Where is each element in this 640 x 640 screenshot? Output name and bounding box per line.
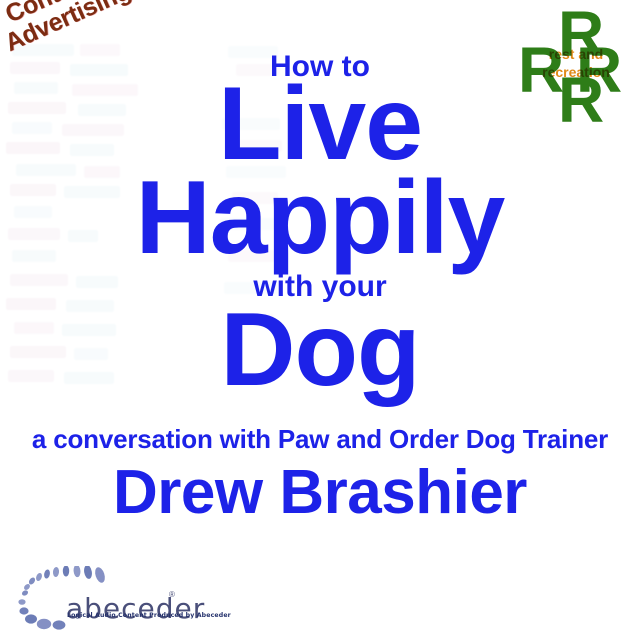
title-happily: Happily bbox=[0, 166, 640, 270]
title-block: How to Live Happily with your Dog a conv… bbox=[0, 0, 640, 640]
abeceder-logo: abeceder ® Logical Audio Content Produce… bbox=[18, 566, 208, 632]
abeceder-tagline: Logical Audio Content Produced by Abeced… bbox=[67, 612, 231, 619]
abeceder-wordmark: abeceder bbox=[66, 592, 205, 625]
audiobook-cover: Contains Advertising R R R R rest and re… bbox=[0, 0, 640, 640]
author-name: Drew Brashier bbox=[0, 462, 640, 524]
title-dog: Dog bbox=[0, 298, 640, 402]
registered-trademark-icon: ® bbox=[169, 590, 175, 599]
subtitle: a conversation with Paw and Order Dog Tr… bbox=[0, 424, 640, 455]
